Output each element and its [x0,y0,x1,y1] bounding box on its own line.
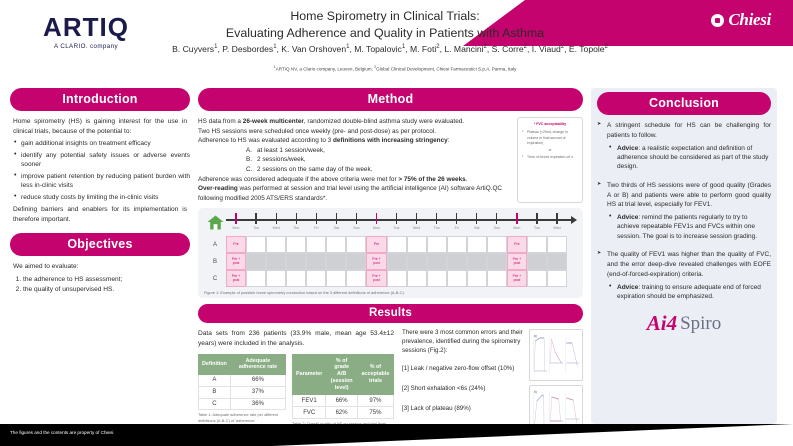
table-2-quality: Parameter % of grade A/B (session level)… [292,354,394,419]
table-row: FEV166%97% [293,395,394,407]
ai4spiro-word: Spiro [680,313,721,335]
tick-bar [356,213,357,224]
timeline-tick: Fri [306,213,326,230]
timeline-tick: Wed [407,213,427,230]
table-cell: 36% [230,398,285,410]
definition-c: C.2 sessions on the same day of the week… [246,165,512,175]
errors-intro: There were 3 most common errors and thei… [402,329,524,356]
tick-bar [456,213,457,224]
calendar-cell [467,236,487,253]
tick-bar [416,213,417,224]
introduction-band: Introduction [10,88,190,111]
table-2-wrap: Parameter % of grade A/B (session level)… [292,354,394,427]
tick-bar [476,213,477,224]
artiq-logo-word: ARTIQ [26,14,146,40]
tick-bar [336,213,337,224]
method-line-1: HS data from a 26-week multicenter, rand… [198,117,512,127]
calendar-cell [467,253,487,270]
calendar-cells: Pre +postPre +postPre +post [226,270,577,287]
timeline-tick: Thu [427,213,447,230]
calendar-cell [427,270,447,287]
poster-footer: The figures and the contents are propert… [0,424,793,446]
calendar-cell [447,270,467,287]
calendar-cell [547,253,567,270]
chart-panel-label-b: b) [534,390,537,394]
timeline-tick: Sat [467,213,487,230]
table-row: Definition Adequate adherence rate [199,354,286,375]
tick-bar [255,213,256,224]
definition-a: A.at least 1 session/week, [246,146,512,156]
calendar-cell [286,253,306,270]
timeline-tick: Mon [226,213,246,230]
calendar-cell [447,236,467,253]
conclusion-point-1: A stringent schedule for HS can be chall… [597,121,771,141]
callout-bullet-1: Plateau (<25mL change in volume in final… [521,130,579,146]
chiesi-logo-word: Chiesi [728,10,771,30]
calendar-cell [306,270,326,287]
tick-bar [316,213,317,224]
calendar-cell [547,236,567,253]
method-line-4: Adherence was considered adequate if the… [198,175,512,185]
calendar-cell [527,236,547,253]
poster-root: ARTIQ A CLARIO. company Home Spirometry … [0,0,793,446]
mini-chart-a1: a) [532,333,548,378]
calendar-cell: Pre [366,236,386,253]
column-left: Introduction Home spirometry (HS) is gai… [10,88,190,424]
calendar-cell [346,270,366,287]
figure-1-caption: Figure 1: Example of possible home spiro… [204,290,577,295]
title-line-1: Home Spirometry in Clinical Trials: [150,8,620,25]
conclusion-advice-3: Advice: training to ensure adequate end … [597,283,771,302]
objectives-list: the adherence to HS assessment; the qual… [10,275,190,295]
timeline-arrow-icon [571,216,577,224]
calendar-cell [266,236,286,253]
table-cell: B [199,386,231,398]
method-text: HS data from a 26-week multicenter, rand… [198,117,512,203]
table-1-adherence: Definition Adequate adherence rate A66%B… [198,354,286,411]
footer-note: The figures and the contents are propert… [10,430,113,435]
calendar-cell [527,270,547,287]
list-item: reduce study costs by limiting the in-cl… [10,193,190,203]
table-cell: 66% [230,375,285,387]
conclusion-point-2: Two thirds of HS sessions were of good q… [597,181,771,210]
calendar-cell [487,236,507,253]
table-cell: FVC [293,407,326,419]
list-item: improve patient retention by reducing pa… [10,172,190,191]
fvc-acceptability-callout: * FVC acceptability Plateau (<25mL chang… [517,117,583,203]
callout-bullet-2: Time of forced expiration ≥6 s [521,155,579,160]
tick-day-label: Tue [246,226,266,230]
results-tables: Definition Adequate adherence rate A66%B… [198,354,394,427]
table-row: Parameter % of grade A/B (session level)… [293,354,394,395]
calendar-cell: Pre +post [366,270,386,287]
timeline-tick: Sun [346,213,366,230]
calendar-cell: Pre +post [226,253,246,270]
timeline-tick: Sun [487,213,507,230]
table-cell: 97% [357,395,393,407]
method-content: HS data from a 26-week multicenter, rand… [198,117,583,203]
tick-day-label: Sat [467,226,487,230]
introduction-closing: Defining barriers and enablers for its i… [10,205,190,224]
chart-panel-label-a: a) [534,334,537,338]
calendar-cell [286,270,306,287]
table-2-header-parameter: Parameter [293,354,326,395]
author-list: B. Cuyvers1, P. Desbordes1, K. Van Orsho… [110,44,670,54]
timeline-tick: Tue [387,213,407,230]
method-line-2: Two HS sessions were scheduled once week… [198,127,512,137]
chiesi-mark-icon [711,14,724,27]
list-item: the quality of unsupervised HS. [23,285,190,295]
table-cell: C [199,398,231,410]
timeline-tick: Wed [266,213,286,230]
table-2-header-acceptable: % of acceptable trials [357,354,393,395]
tick-day-label: Sun [346,226,366,230]
tick-day-label: Tue [527,226,547,230]
objectives-lead: We aimed to evaluate: [10,262,190,272]
timeline-tick: Thu [286,213,306,230]
timeline-tick: Mon [366,213,386,230]
title-line-2: Evaluating Adherence and Quality in Pati… [150,25,620,42]
tick-day-label: Sun [487,226,507,230]
calendar-row-label: A [204,236,226,253]
poster-body: Introduction Home spirometry (HS) is gai… [0,88,793,424]
footer-wedge [273,424,793,446]
error-item-1: [1] Leak / negative zero-flow offset (10… [402,365,524,374]
table-cell: A [199,375,231,387]
calendar-cell [346,253,366,270]
chiesi-logo: Chiesi [711,10,771,30]
list-item: identify any potential safety issues or … [10,151,190,170]
table-cell: 66% [326,395,357,407]
timeline-tick: Tue [527,213,547,230]
calendar-cell [427,253,447,270]
calendar-timeline-row: MonTueWedThuFriSatSunMonTueWedThuFriSatS… [204,213,577,235]
calendar-cell [447,253,467,270]
calendar-cells: Pre +postPre +postPre +post [226,253,577,270]
calendar-rows: APrePrePreBPre +postPre +postPre +postCP… [204,236,577,287]
calendar-cell [387,253,407,270]
calendar-cell [467,270,487,287]
table-row: A66% [199,375,286,387]
calendar-cell [487,253,507,270]
table-1-header-rate: Adequate adherence rate [230,354,285,375]
ai4spiro-logo: Ai4 Spiro [597,311,771,336]
table-row: FVC62%75% [293,407,394,419]
calendar-row: BPre +postPre +postPre +post [204,253,577,270]
table-cell: FEV1 [293,395,326,407]
calendar-cell [407,253,427,270]
conclusion-advice-2: Advice: remind the patients regularly to… [597,213,771,241]
introduction-paragraph: Home spirometry (HS) is gaining interest… [10,117,190,136]
calendar-cell [246,270,266,287]
timeline-tick: Wed [547,213,567,230]
home-icon [204,213,226,230]
conclusion-band: Conclusion [597,92,771,115]
table-1-wrap: Definition Adequate adherence rate A66%B… [198,354,286,427]
tick-day-label: Mon [507,226,527,230]
table-cell: 75% [357,407,393,419]
list-item: gain additional insights on treatment ef… [10,139,190,149]
calendar-cell [547,270,567,287]
timeline-tick: Mon [507,213,527,230]
poster-header: ARTIQ A CLARIO. company Home Spirometry … [0,0,793,88]
tick-day-label: Wed [547,226,567,230]
calendar-cell [346,236,366,253]
table-1-caption: Table 1: Adequate adherence rate per dif… [198,412,286,423]
timeline-tick: Sat [326,213,346,230]
calendar-cell: Pre +post [507,270,527,287]
affiliation-list: 1ARTIQ NV, a Clario company, Leuven, Bel… [150,65,640,72]
calendar-row: APrePrePre [204,236,577,253]
conclusion-advice-1: Advice: a realistic expectation and defi… [597,144,771,172]
tick-day-label: Tue [387,226,407,230]
objectives-band: Objectives [10,233,190,256]
table-row: C36% [199,398,286,410]
definition-b: B.2 sessions/week, [246,155,512,165]
ai4spiro-mark: Ai4 [647,311,677,336]
table-cell: 37% [230,386,285,398]
chart-row-a: a) [529,329,583,381]
tick-bar [436,213,437,224]
calendar-cell [387,270,407,287]
callout-or: or [521,148,579,153]
tick-day-label: Fri [447,226,467,230]
calendar-cell [306,253,326,270]
conclusion-point-3: The quality of FEV1 was higher than the … [597,250,771,279]
error-item-2: [2] Short exhalation <6s (24%) [402,385,524,394]
calendar-cell: Pre +post [366,253,386,270]
calendar-row-label: C [204,270,226,287]
calendar-cell [326,270,346,287]
mini-chart-a2 [548,333,564,378]
calendar-cell [487,270,507,287]
table-cell: 62% [326,407,357,419]
error-item-3: [3] Lack of plateau (89%) [402,405,524,414]
tick-day-label: Sat [326,226,346,230]
tick-bar [516,213,517,224]
calendar-cells: PrePrePre [226,236,577,253]
tick-bar [376,213,377,224]
column-middle: Method HS data from a 26-week multicente… [198,88,583,424]
introduction-bullets: gain additional insights on treatment ef… [10,139,190,202]
tick-bar [536,213,537,224]
table-1-header-definition: Definition [199,354,231,375]
tick-day-label: Mon [226,226,246,230]
calendar-cell: Pre [507,236,527,253]
tick-bar [276,213,277,224]
calendar-timeline: MonTueWedThuFriSatSunMonTueWedThuFriSatS… [226,213,577,235]
figure-1-calendar: MonTueWedThuFriSatSunMonTueWedThuFriSatS… [198,208,583,298]
mini-chart-a3 [564,333,580,378]
column-right: Conclusion A stringent schedule for HS c… [591,88,777,424]
tick-day-label: Mon [366,226,386,230]
method-band: Method [198,88,583,111]
tick-day-label: Fri [306,226,326,230]
tick-bar [556,213,557,224]
tick-day-label: Thu [427,226,447,230]
calendar-cell [246,253,266,270]
tick-day-label: Thu [286,226,306,230]
results-intro: Data sets from 236 patients (33.9% male,… [198,329,394,348]
tick-bar [496,213,497,224]
calendar-cell [427,236,447,253]
callout-heading: * FVC acceptability [521,122,579,127]
method-line-5: Over-reading was performed at session an… [198,184,512,203]
calendar-cell [387,236,407,253]
calendar-row: CPre +postPre +postPre +post [204,270,577,287]
calendar-cell: Pre +post [226,270,246,287]
tick-day-label: Wed [266,226,286,230]
list-item: the adherence to HS assessment; [23,275,190,285]
calendar-cell [326,236,346,253]
timeline-ticks: MonTueWedThuFriSatSunMonTueWedThuFriSatS… [226,213,567,230]
tick-bar [235,213,236,224]
timeline-tick: Tue [246,213,266,230]
calendar-cell [407,236,427,253]
calendar-cell [306,236,326,253]
tick-bar [396,213,397,224]
calendar-row-label: B [204,253,226,270]
results-band: Results [198,304,583,323]
tick-bar [296,213,297,224]
method-line-3: Adherence to HS was evaluated according … [198,136,512,146]
method-definitions: A.at least 1 session/week, B.2 sessions/… [246,146,512,175]
calendar-cell: Pre [226,236,246,253]
page-title: Home Spirometry in Clinical Trials: Eval… [150,8,620,41]
calendar-cell: Pre +post [507,253,527,270]
calendar-cell [407,270,427,287]
calendar-cell [527,253,547,270]
calendar-cell [266,270,286,287]
timeline-tick: Fri [447,213,467,230]
tick-day-label: Wed [407,226,427,230]
table-row: B37% [199,386,286,398]
calendar-cell [326,253,346,270]
calendar-cell [286,236,306,253]
calendar-cell [266,253,286,270]
table-2-header-grade: % of grade A/B (session level) [326,354,357,395]
calendar-cell [246,236,266,253]
